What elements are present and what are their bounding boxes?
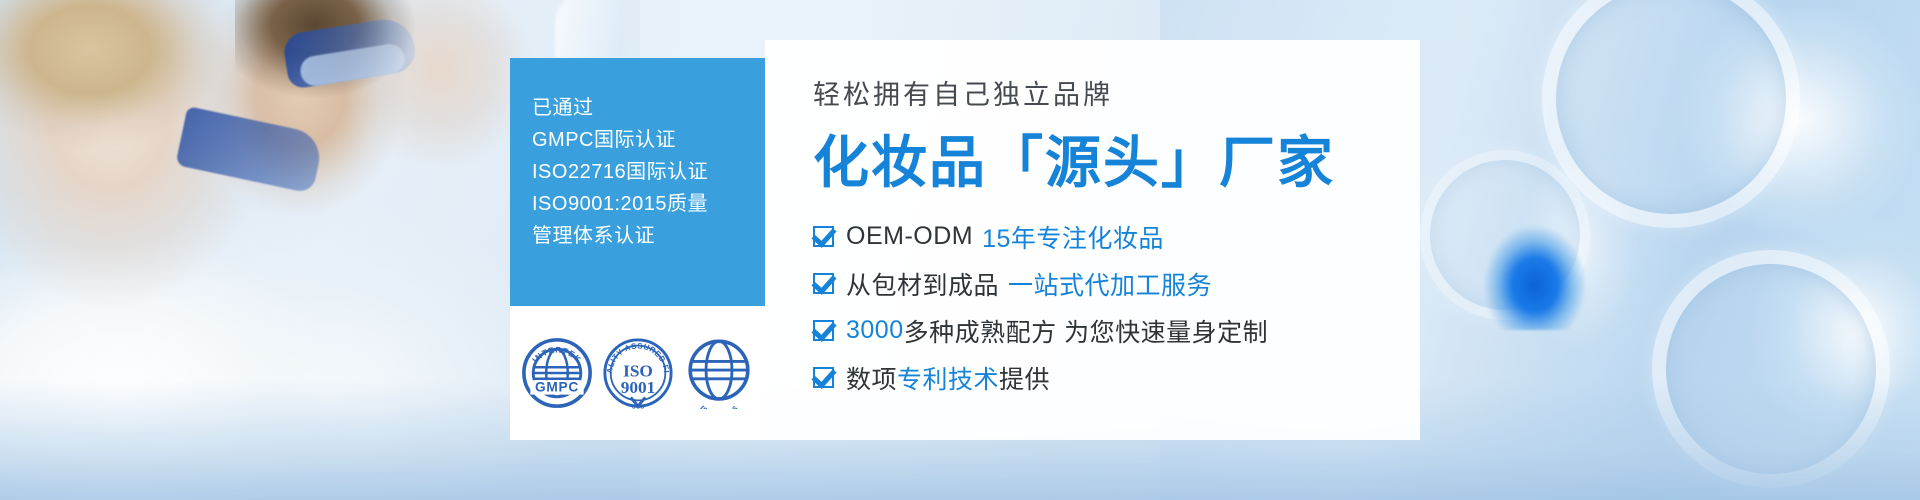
certification-panel: 已通过 GMPC国际认证 ISO22716国际认证 ISO9001:2015质量… [510, 58, 765, 306]
subheading: 轻松拥有自己独立品牌 [813, 82, 1420, 109]
bullet-plain-2: 多种成熟配方 为您快速量身定制 [904, 313, 1268, 349]
svg-text:9001: 9001 [620, 378, 655, 397]
svg-text:INTERTEK: INTERTEK [530, 346, 582, 365]
bullet-highlight: 3000 [846, 316, 904, 345]
glassware-ring [1542, 0, 1800, 228]
checkbox-icon [813, 320, 834, 341]
bullet-highlight: 专利技术 [897, 360, 999, 396]
certification-line-1: 已通过 [532, 92, 765, 124]
certification-line-5: 管理体系认证 [532, 220, 765, 252]
main-heading: 化妆品「源头」厂家 [813, 131, 1420, 195]
iso-9001-logo: QUALITY ASSURED FIRM ISO 9001 SGS [602, 337, 674, 409]
feature-list: OEM-ODM15年专注化妆品 从包材到成品一站式代加工服务 3000多种成熟配… [813, 213, 1420, 401]
promo-banner: 已通过 GMPC国际认证 ISO22716国际认证 ISO9001:2015质量… [0, 0, 1920, 500]
svg-text:ISO 22716: ISO 22716 [697, 404, 740, 409]
checkbox-icon [813, 367, 834, 388]
certification-line-2: GMPC国际认证 [532, 124, 765, 156]
bullet-plain-1: 从包材到成品 [846, 266, 999, 302]
certification-logo-strip: GMPC INTERTEK QUALITY ASSURED FIRM ISO 9… [510, 306, 765, 440]
checkbox-icon [813, 226, 834, 247]
content-panel: 轻松拥有自己独立品牌 化妆品「源头」厂家 OEM-ODM15年专注化妆品 从包材… [765, 40, 1420, 440]
bullet-plain-1: 数项 [846, 360, 897, 396]
certification-line-3: ISO22716国际认证 [532, 156, 765, 188]
list-item: OEM-ODM15年专注化妆品 [813, 213, 1420, 260]
blue-liquid-drop [1475, 200, 1595, 330]
certification-line-4: ISO9001:2015质量 [532, 188, 765, 220]
bullet-highlight: 15年专注化妆品 [982, 219, 1164, 255]
intertek-gmpc-logo: GMPC INTERTEK [521, 337, 593, 409]
certification-text-block: 已通过 GMPC国际认证 ISO22716国际认证 ISO9001:2015质量… [510, 58, 765, 252]
list-item: 数项专利技术提供 [813, 354, 1420, 401]
list-item: 3000多种成熟配方 为您快速量身定制 [813, 307, 1420, 354]
checkbox-icon [813, 273, 834, 294]
bullet-plain-2: 提供 [999, 360, 1050, 396]
svg-text:SGS: SGS [631, 404, 643, 409]
bullet-highlight: 一站式代加工服务 [1008, 266, 1212, 302]
list-item: 从包材到成品一站式代加工服务 [813, 260, 1420, 307]
iso-22716-logo: ISO 22716 [683, 337, 755, 409]
svg-text:GMPC: GMPC [535, 380, 579, 395]
bullet-plain-1: OEM-ODM [846, 222, 973, 251]
